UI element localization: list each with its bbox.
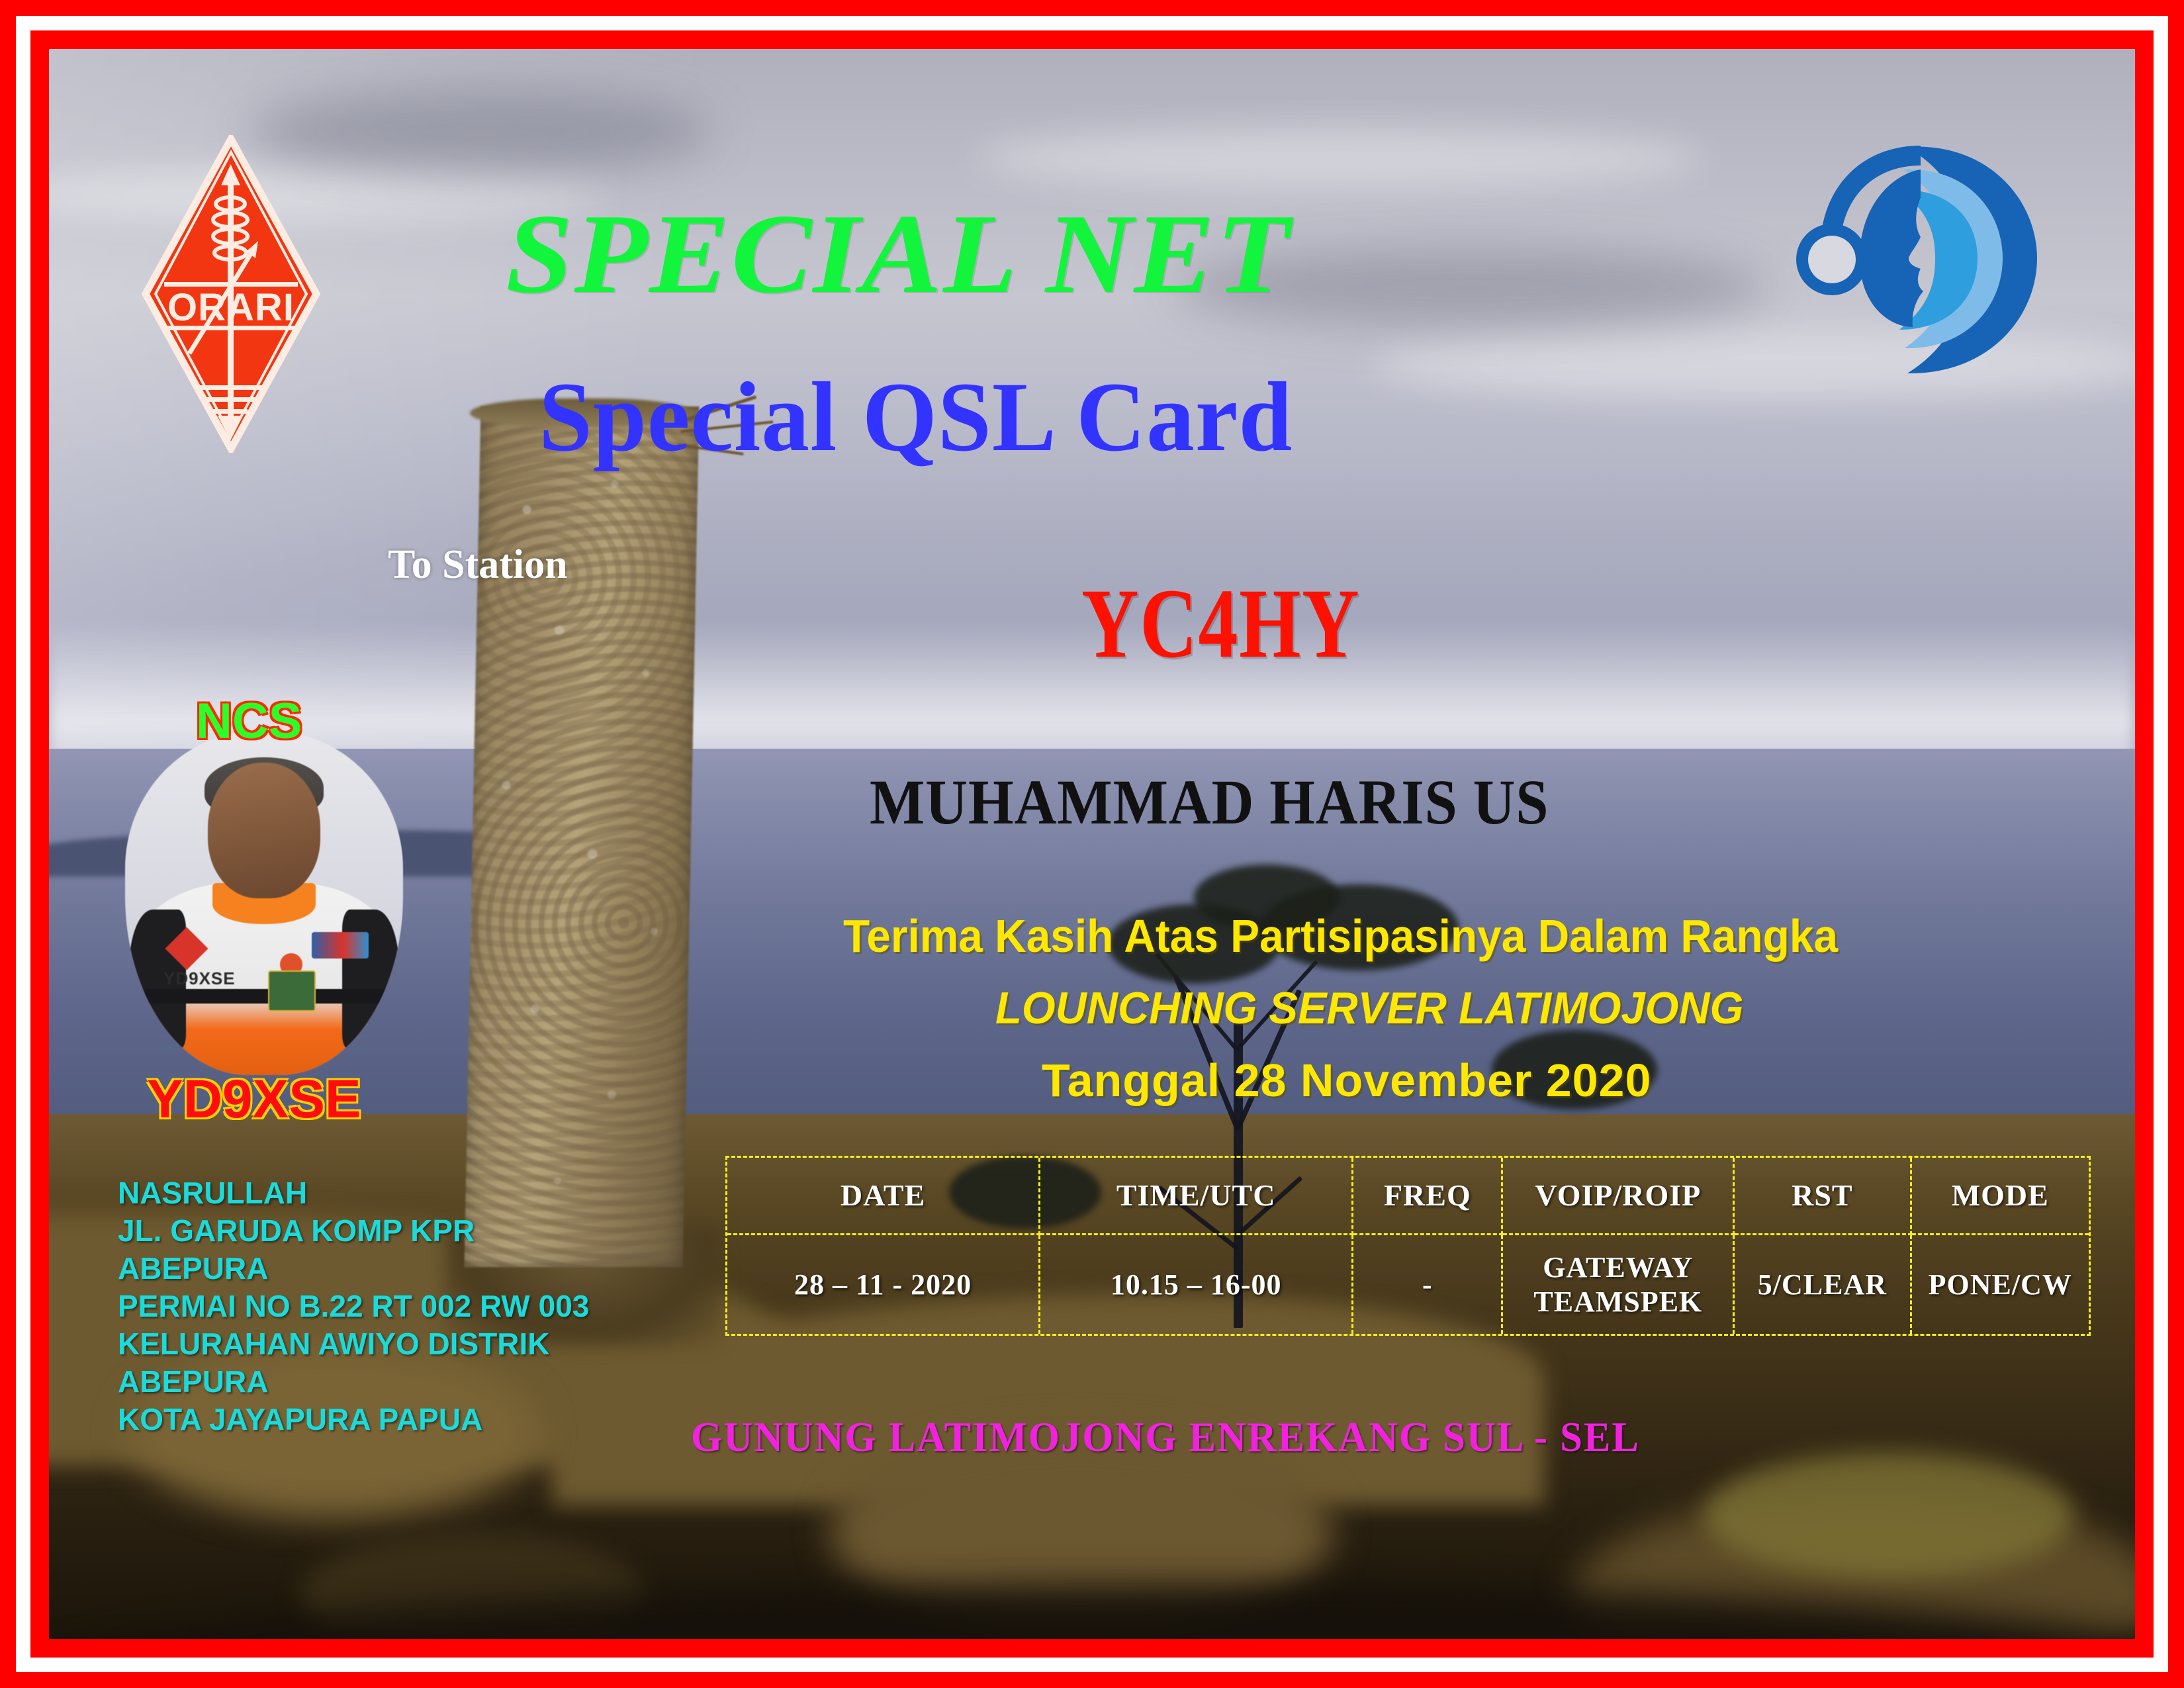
table-header-rst: RST	[1735, 1158, 1911, 1235]
uniform-stripe	[137, 989, 391, 1004]
address-line: NASRULLAH	[118, 1174, 589, 1212]
svg-text:ORARI: ORARI	[167, 286, 295, 329]
web-address-text: Address : amatir.latimojong.com	[1326, 1634, 1921, 1639]
table-cell-freq: -	[1353, 1235, 1503, 1334]
operator-face	[208, 763, 320, 898]
slogan-text: "AMATIR RADIO ADALAH PROGRESIVE"	[127, 1636, 933, 1639]
table-cell-time-utc: 10.15 – 16-00	[1040, 1235, 1353, 1334]
shirt-callsign-text: YD9XSE	[163, 968, 236, 989]
message-line-1: Terima Kasih Atas Partisipasinya Dalam R…	[843, 910, 1838, 962]
table-header-mode: MODE	[1912, 1158, 2089, 1235]
table-header-voip-roip: VOIP/ROIP	[1503, 1158, 1735, 1235]
message-line-2: LOUNCHING SERVER LATIMOJONG	[995, 982, 1743, 1034]
ncs-callsign: YD9XSE	[147, 1068, 361, 1131]
orari-logo: ORARI	[142, 135, 320, 453]
subtitle-special-qsl-card: Special QSL Card	[539, 360, 1293, 474]
to-station-label: To Station	[388, 541, 568, 588]
stone-cairn-monument	[465, 406, 700, 1267]
cloud-streak	[976, 128, 1704, 188]
uniform-shoulder-right	[342, 910, 399, 1049]
table-cell-voip-roip: GATEWAY TEAMSPEK	[1503, 1235, 1735, 1334]
card-photo-area: ORARI	[49, 49, 2135, 1639]
table-cell-mode: PONE/CW	[1912, 1235, 2089, 1334]
table-cell-rst: 5/CLEAR	[1735, 1235, 1911, 1334]
message-line-3-date: Tanggal 28 November 2020	[1042, 1054, 1651, 1107]
uniform-patch-right	[312, 932, 369, 959]
id-card	[268, 970, 316, 1011]
qsl-card: ORARI	[0, 0, 2184, 1688]
grass-patch	[1704, 1452, 2074, 1578]
table-cell-date: 28 – 11 - 2020	[727, 1235, 1040, 1334]
table-header-time-utc: TIME/UTC	[1040, 1158, 1353, 1235]
table-header-date: DATE	[727, 1158, 1040, 1235]
title-special-net: SPECIAL NET	[506, 189, 1291, 320]
address-line: ABEPURA	[118, 1363, 589, 1401]
qso-log-table: DATE TIME/UTC FREQ VOIP/ROIP RST MODE 28…	[725, 1156, 2091, 1336]
address-line: KELURAHAN AWIYO DISTRIK	[118, 1325, 589, 1363]
headset-profile-logo	[1791, 128, 2056, 387]
address-line: KOTA JAYAPURA PAPUA	[118, 1401, 589, 1438]
recipient-operator-name: MUHAMMAD HARIS US	[870, 765, 1549, 839]
address-line: PERMAI NO B.22 RT 002 RW 003	[118, 1288, 589, 1325]
address-line: ABEPURA	[118, 1250, 589, 1288]
ncs-label: NCS	[196, 692, 302, 750]
table-header-freq: FREQ	[1353, 1158, 1503, 1235]
ncs-operator-photo: YD9XSE	[125, 731, 403, 1075]
address-line: JL. GARUDA KOMP KPR	[118, 1212, 589, 1250]
recipient-callsign: YC4HY	[1081, 567, 1360, 680]
ncs-address-block: NASRULLAH JL. GARUDA KOMP KPR ABEPURA PE…	[118, 1174, 589, 1438]
location-line: GUNUNG LATIMOJONG ENREKANG SUL - SEL	[691, 1413, 1640, 1462]
